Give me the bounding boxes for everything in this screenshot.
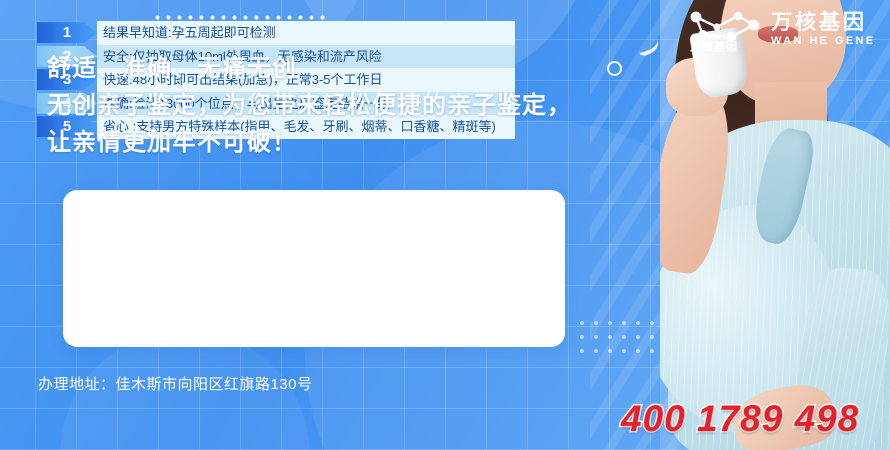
list-item-number: 1	[37, 22, 97, 43]
headline-line-2: 无创亲子鉴定，为您带来轻松便捷的亲子鉴定，	[47, 87, 572, 124]
feature-card	[63, 190, 565, 347]
logo-mark-caption: 万核基因	[690, 38, 738, 54]
advertisement-banner: 万核基因 万核基因 WAN HE GENE 舒适、准确、无痛无创 无创亲子鉴定，…	[0, 0, 890, 450]
logo-name-cn: 万核基因	[771, 12, 876, 34]
headline-line-1: 舒适、准确、无痛无创	[47, 50, 572, 87]
ring-icon	[607, 61, 622, 76]
pregnant-woman-photo	[660, 0, 890, 450]
brand-logo: 万核基因 万核基因 WAN HE GENE	[686, 7, 876, 53]
list-item-label: 结果早知道:孕五周起即可检测	[103, 26, 276, 39]
logo-wordmark: 万核基因 WAN HE GENE	[771, 12, 876, 48]
list-item: 1 结果早知道:孕五周起即可检测	[37, 21, 515, 45]
office-address: 办理地址：佳木斯市向阳区红旗路130号	[38, 373, 313, 394]
logo-name-en: WAN HE GENE	[771, 36, 876, 48]
hotline-phone-number[interactable]: 400 1789 498	[621, 398, 859, 440]
headline: 舒适、准确、无痛无创 无创亲子鉴定，为您带来轻松便捷的亲子鉴定， 让亲情更加牢不…	[47, 50, 572, 161]
molecule-icon: 万核基因	[686, 7, 762, 53]
headline-line-3: 让亲情更加牢不可破！	[47, 124, 572, 161]
